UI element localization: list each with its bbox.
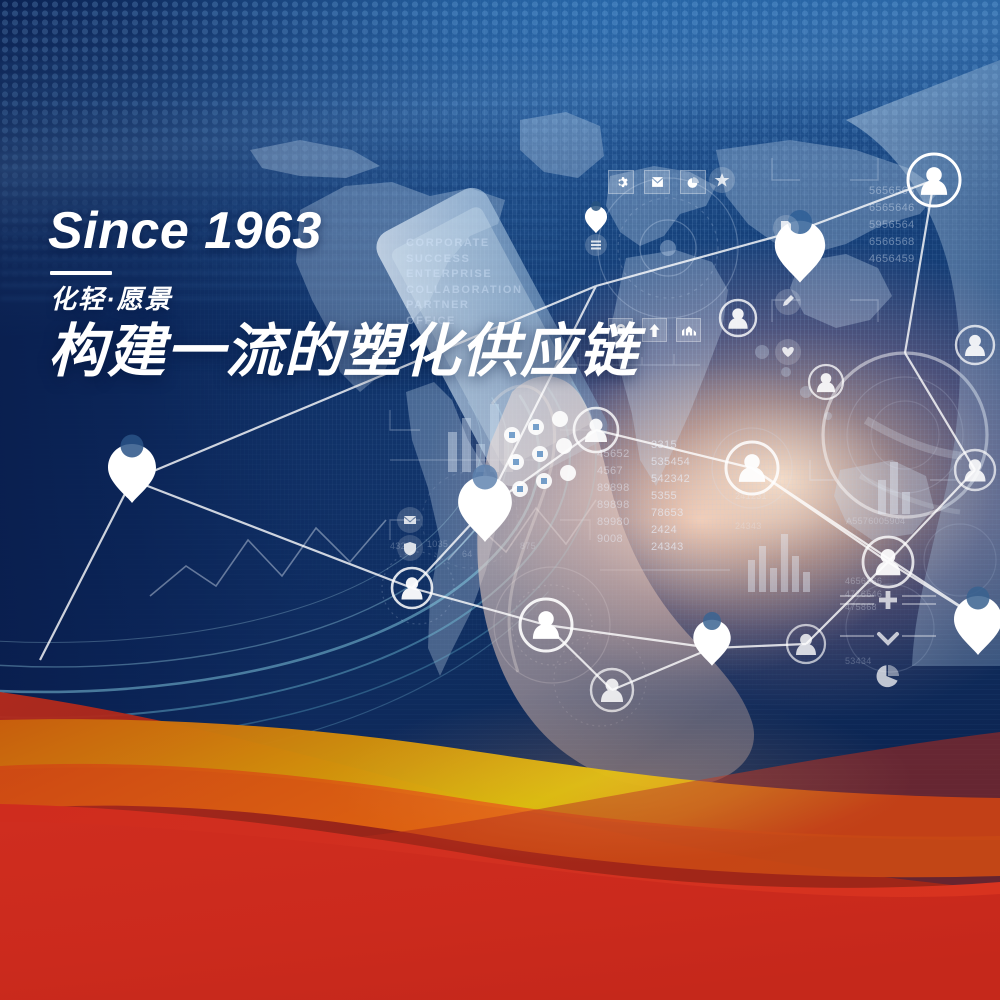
number-item: 9008 [597,531,630,548]
banner-image: CORPORATE SUCCESS ENTERPRISE COLLABORATI… [0,0,1000,1000]
number-column-b: 45652 4567 89898 89898 89980 9008 [597,446,630,548]
number-item: 4656566 [845,575,882,588]
number-item: 24343 [651,539,690,556]
divider-rule [50,271,112,275]
small-number: 1035 [427,538,448,551]
subtitle: 化轻·愿景 [50,285,668,314]
number-item: 89898 [597,480,630,497]
number-item: 535454 [651,454,690,471]
number-column-c: 5656566 6565646 5956564 6566568 4656459 [869,183,915,268]
number-item: 2424 [651,522,690,539]
small-number: A5576005904 [846,515,905,528]
number-item: 6565646 [869,200,915,217]
since-label: Since 1963 [48,205,668,257]
wave-graphics [0,670,1000,1000]
page-title: 构建一流的塑化供应链 [48,320,668,385]
small-number: 875 [520,540,536,553]
number-item: 45652 [597,446,630,463]
number-item: 3315 [651,437,690,454]
small-number: 64 [462,548,473,561]
small-number: 24343 [735,520,762,533]
number-item: 542342 [651,471,690,488]
number-column-a: 3315 535454 542342 5355 78653 2424 24343 [651,437,690,556]
small-number: 53434 [845,655,872,668]
number-item: 78653 [651,505,690,522]
number-item: 4567 [597,463,630,480]
number-item: 89980 [597,514,630,531]
number-item: 475868 [845,601,882,614]
headline-block: Since 1963 化轻·愿景 构建一流的塑化供应链 [48,205,668,385]
number-item: 89898 [597,497,630,514]
number-item: 4776646 [845,588,882,601]
small-number: 432 [390,540,406,553]
small-number: 241231 [735,490,767,503]
number-column-d: 4656566 4776646 475868 [845,575,882,614]
number-item: 5355 [651,488,690,505]
number-item: 6566568 [869,234,915,251]
number-item: 5656566 [869,183,915,200]
number-item: 5956564 [869,217,915,234]
number-item: 4656459 [869,251,915,268]
